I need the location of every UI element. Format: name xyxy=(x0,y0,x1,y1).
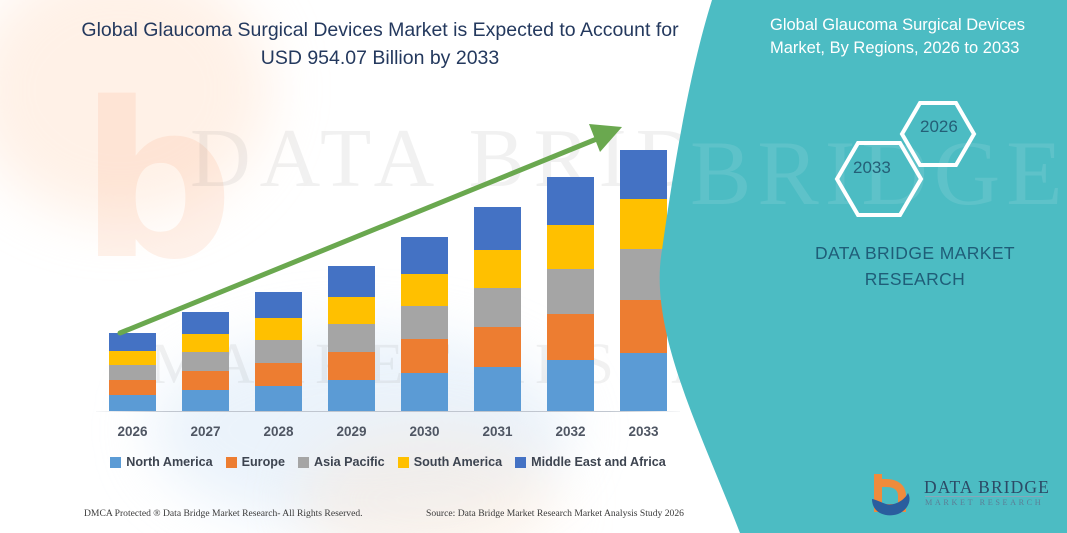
bar-segment xyxy=(401,306,448,339)
x-axis-label-2031: 2031 xyxy=(474,424,521,439)
bar-2029 xyxy=(328,266,375,411)
legend-item-north-america[interactable]: North America xyxy=(110,455,212,469)
bar-segment xyxy=(547,225,594,269)
x-axis-label-2029: 2029 xyxy=(328,424,375,439)
brand-logo-tagline: MARKET RESEARCH xyxy=(925,498,1043,507)
bar-segment xyxy=(328,266,375,297)
bar-segment xyxy=(255,318,302,340)
bar-segment xyxy=(182,312,229,334)
bar-segment xyxy=(109,365,156,380)
x-axis-label-2026: 2026 xyxy=(109,424,156,439)
x-axis-label-2030: 2030 xyxy=(401,424,448,439)
legend-swatch-icon xyxy=(110,457,121,468)
bar-segment xyxy=(182,390,229,411)
bar-segment xyxy=(547,269,594,314)
x-axis-label-2027: 2027 xyxy=(182,424,229,439)
bar-segment xyxy=(328,380,375,411)
bar-segment xyxy=(328,324,375,352)
infographic-slide: b DATA BRIDGE MARKET RESEARCH Global Gla… xyxy=(0,0,1067,533)
bar-segment xyxy=(328,352,375,380)
bar-segment xyxy=(401,373,448,411)
bar-segment xyxy=(547,360,594,411)
bar-segment xyxy=(182,334,229,352)
bar-segment xyxy=(474,250,521,288)
x-axis-label-2028: 2028 xyxy=(255,424,302,439)
bar-segment xyxy=(255,292,302,318)
bar-segment xyxy=(474,207,521,250)
bar-2032 xyxy=(547,177,594,411)
panel-title: Global Glaucoma Surgical Devices Market,… xyxy=(770,14,1055,61)
hexagon-shapes-icon xyxy=(820,95,1020,220)
legend-label: North America xyxy=(126,455,212,469)
bar-2028 xyxy=(255,292,302,411)
chart-x-axis-labels: 20262027202820292030203120322033 xyxy=(96,424,680,446)
bar-segment xyxy=(401,339,448,373)
legend-label: Europe xyxy=(242,455,285,469)
brand-logo-divider xyxy=(925,496,1043,497)
stacked-bar-chart: 20262027202820292030203120322033 North A… xyxy=(0,0,712,533)
bar-segment xyxy=(182,352,229,371)
legend-label: Asia Pacific xyxy=(314,455,385,469)
bar-segment xyxy=(182,371,229,390)
bar-segment xyxy=(109,333,156,351)
legend-item-asia-pacific[interactable]: Asia Pacific xyxy=(298,455,385,469)
bar-segment xyxy=(401,237,448,274)
bar-segment xyxy=(547,177,594,225)
bar-segment xyxy=(474,288,521,327)
brand-logo-name: DATA BRIDGE xyxy=(924,477,1050,498)
bar-segment xyxy=(255,363,302,386)
bar-2030 xyxy=(401,237,448,411)
bar-segment xyxy=(109,351,156,365)
panel-brand-line1: DATA BRIDGE MARKET xyxy=(780,240,1050,266)
bar-segment xyxy=(109,395,156,411)
footer-dmca-text: DMCA Protected ® Data Bridge Market Rese… xyxy=(84,508,363,519)
bar-2026 xyxy=(109,333,156,411)
legend-swatch-icon xyxy=(298,457,309,468)
bar-segment xyxy=(255,340,302,363)
bar-segment xyxy=(401,274,448,306)
bar-segment xyxy=(255,386,302,411)
chart-axis-line xyxy=(96,411,680,412)
legend-label: South America xyxy=(414,455,502,469)
panel-brand-text: DATA BRIDGE MARKET RESEARCH xyxy=(780,240,1050,293)
hexagon-label-start: 2026 xyxy=(920,117,958,137)
data-bridge-mark-icon xyxy=(868,474,920,518)
panel-brand-line2: RESEARCH xyxy=(780,266,1050,292)
hexagon-badges: 2026 2033 xyxy=(820,95,1020,220)
bar-2031 xyxy=(474,207,521,411)
bar-2027 xyxy=(182,312,229,411)
legend-item-south-america[interactable]: South America xyxy=(398,455,502,469)
legend-swatch-icon xyxy=(398,457,409,468)
bar-segment xyxy=(328,297,375,324)
bar-segment xyxy=(547,314,594,360)
chart-legend: North AmericaEuropeAsia PacificSouth Ame… xyxy=(96,455,680,469)
bar-segment xyxy=(474,367,521,411)
x-axis-label-2032: 2032 xyxy=(547,424,594,439)
footer: DMCA Protected ® Data Bridge Market Rese… xyxy=(70,508,690,526)
bar-segment xyxy=(109,380,156,395)
legend-item-europe[interactable]: Europe xyxy=(226,455,285,469)
bar-segment xyxy=(474,327,521,367)
hexagon-label-end: 2033 xyxy=(853,158,891,178)
legend-swatch-icon xyxy=(515,457,526,468)
legend-swatch-icon xyxy=(226,457,237,468)
brand-logo: DATA BRIDGE MARKET RESEARCH xyxy=(868,474,1048,518)
